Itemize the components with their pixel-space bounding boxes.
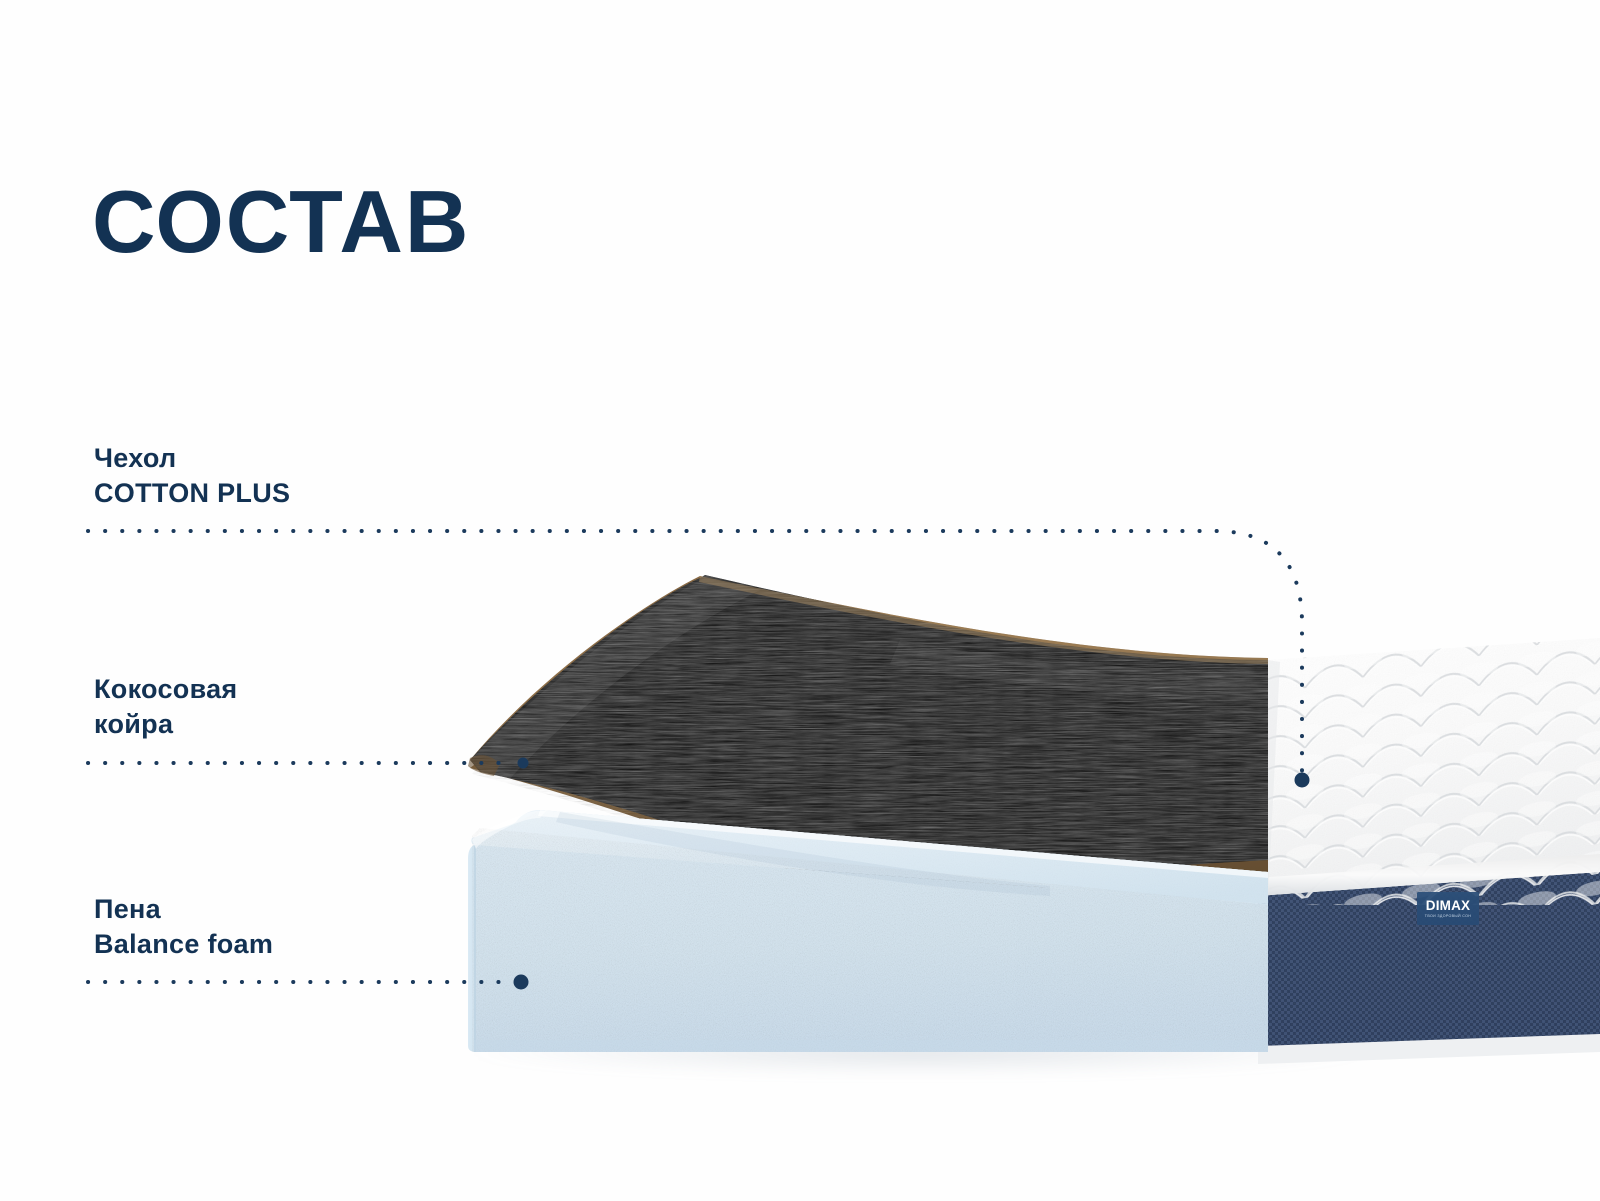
brand-tag-sublabel: ТВОИ ЗДОРОВЫЙ СОН — [1425, 915, 1471, 919]
label-foam-line1: Пена — [94, 892, 273, 927]
label-foam-line2: Balance foam — [94, 927, 273, 962]
label-coir: Кокосовая койра — [94, 672, 238, 741]
brand-tag-label: DIMAX — [1426, 899, 1471, 913]
label-foam: Пена Balance foam — [94, 892, 273, 961]
mattress-svg — [0, 0, 1600, 1201]
label-cover: Чехол COTTON PLUS — [94, 441, 290, 510]
mattress-illustration: DIMAX ТВОИ ЗДОРОВЫЙ СОН — [0, 0, 1600, 1201]
brand-tag-text-group: DIMAX ТВОИ ЗДОРОВЫЙ СОН — [1417, 893, 1479, 925]
label-coir-line1: Кокосовая — [94, 672, 238, 707]
label-cover-line2: COTTON PLUS — [94, 476, 290, 511]
infographic-canvas: СОСТАВ — [0, 0, 1600, 1201]
label-cover-line1: Чехол — [94, 441, 290, 476]
label-coir-line2: койра — [94, 707, 238, 742]
